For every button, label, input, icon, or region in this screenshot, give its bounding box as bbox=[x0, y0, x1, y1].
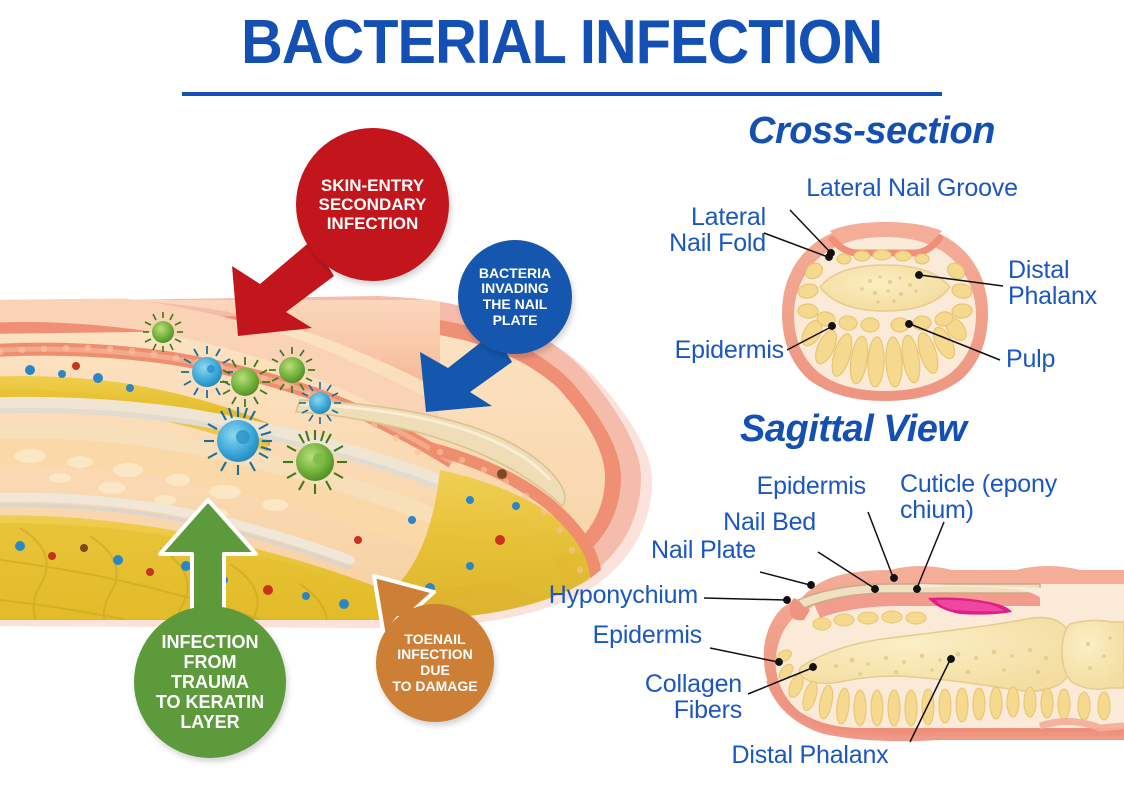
label-epidermis-sagittal-left: Epidermis bbox=[540, 623, 702, 649]
callout-toenail-infection-due-to-damage[interactable]: TOENAIL INFECTION DUE TO DAMAGE bbox=[376, 604, 494, 722]
callout-bacteria-invading-nail-plate[interactable]: BACTERIA INVADING THE NAIL PLATE bbox=[458, 240, 572, 354]
label-nail-plate: Nail Plate bbox=[590, 538, 756, 564]
label-epidermis-cross: Epidermis bbox=[604, 338, 784, 364]
diagram-canvas: BACTERIAL INFECTION bbox=[0, 0, 1124, 800]
label-hyponychium: Hyponychium bbox=[500, 583, 698, 609]
label-distal-phalanx-cross: Distal Phalanx bbox=[1008, 258, 1124, 309]
label-cuticle-eponychium: Cuticle (epony chium) bbox=[900, 472, 1115, 523]
label-distal-phalanx-sagittal: Distal Phalanx bbox=[700, 743, 920, 769]
callout-infection-from-trauma[interactable]: INFECTION FROM TRAUMA TO KERATIN LAYER bbox=[134, 606, 286, 758]
label-pulp: Pulp bbox=[1006, 347, 1106, 373]
label-nail-bed: Nail Bed bbox=[666, 510, 816, 536]
callout-skin-entry-secondary-infection[interactable]: SKIN-ENTRY SECONDARY INFECTION bbox=[296, 128, 449, 281]
label-lateral-nail-fold: Lateral Nail Fold bbox=[600, 205, 766, 256]
label-collagen-fibers: Collagen Fibers bbox=[580, 672, 742, 723]
label-epidermis-sagittal-top: Epidermis bbox=[700, 474, 866, 500]
label-lateral-nail-groove: Lateral Nail Groove bbox=[782, 176, 1042, 202]
